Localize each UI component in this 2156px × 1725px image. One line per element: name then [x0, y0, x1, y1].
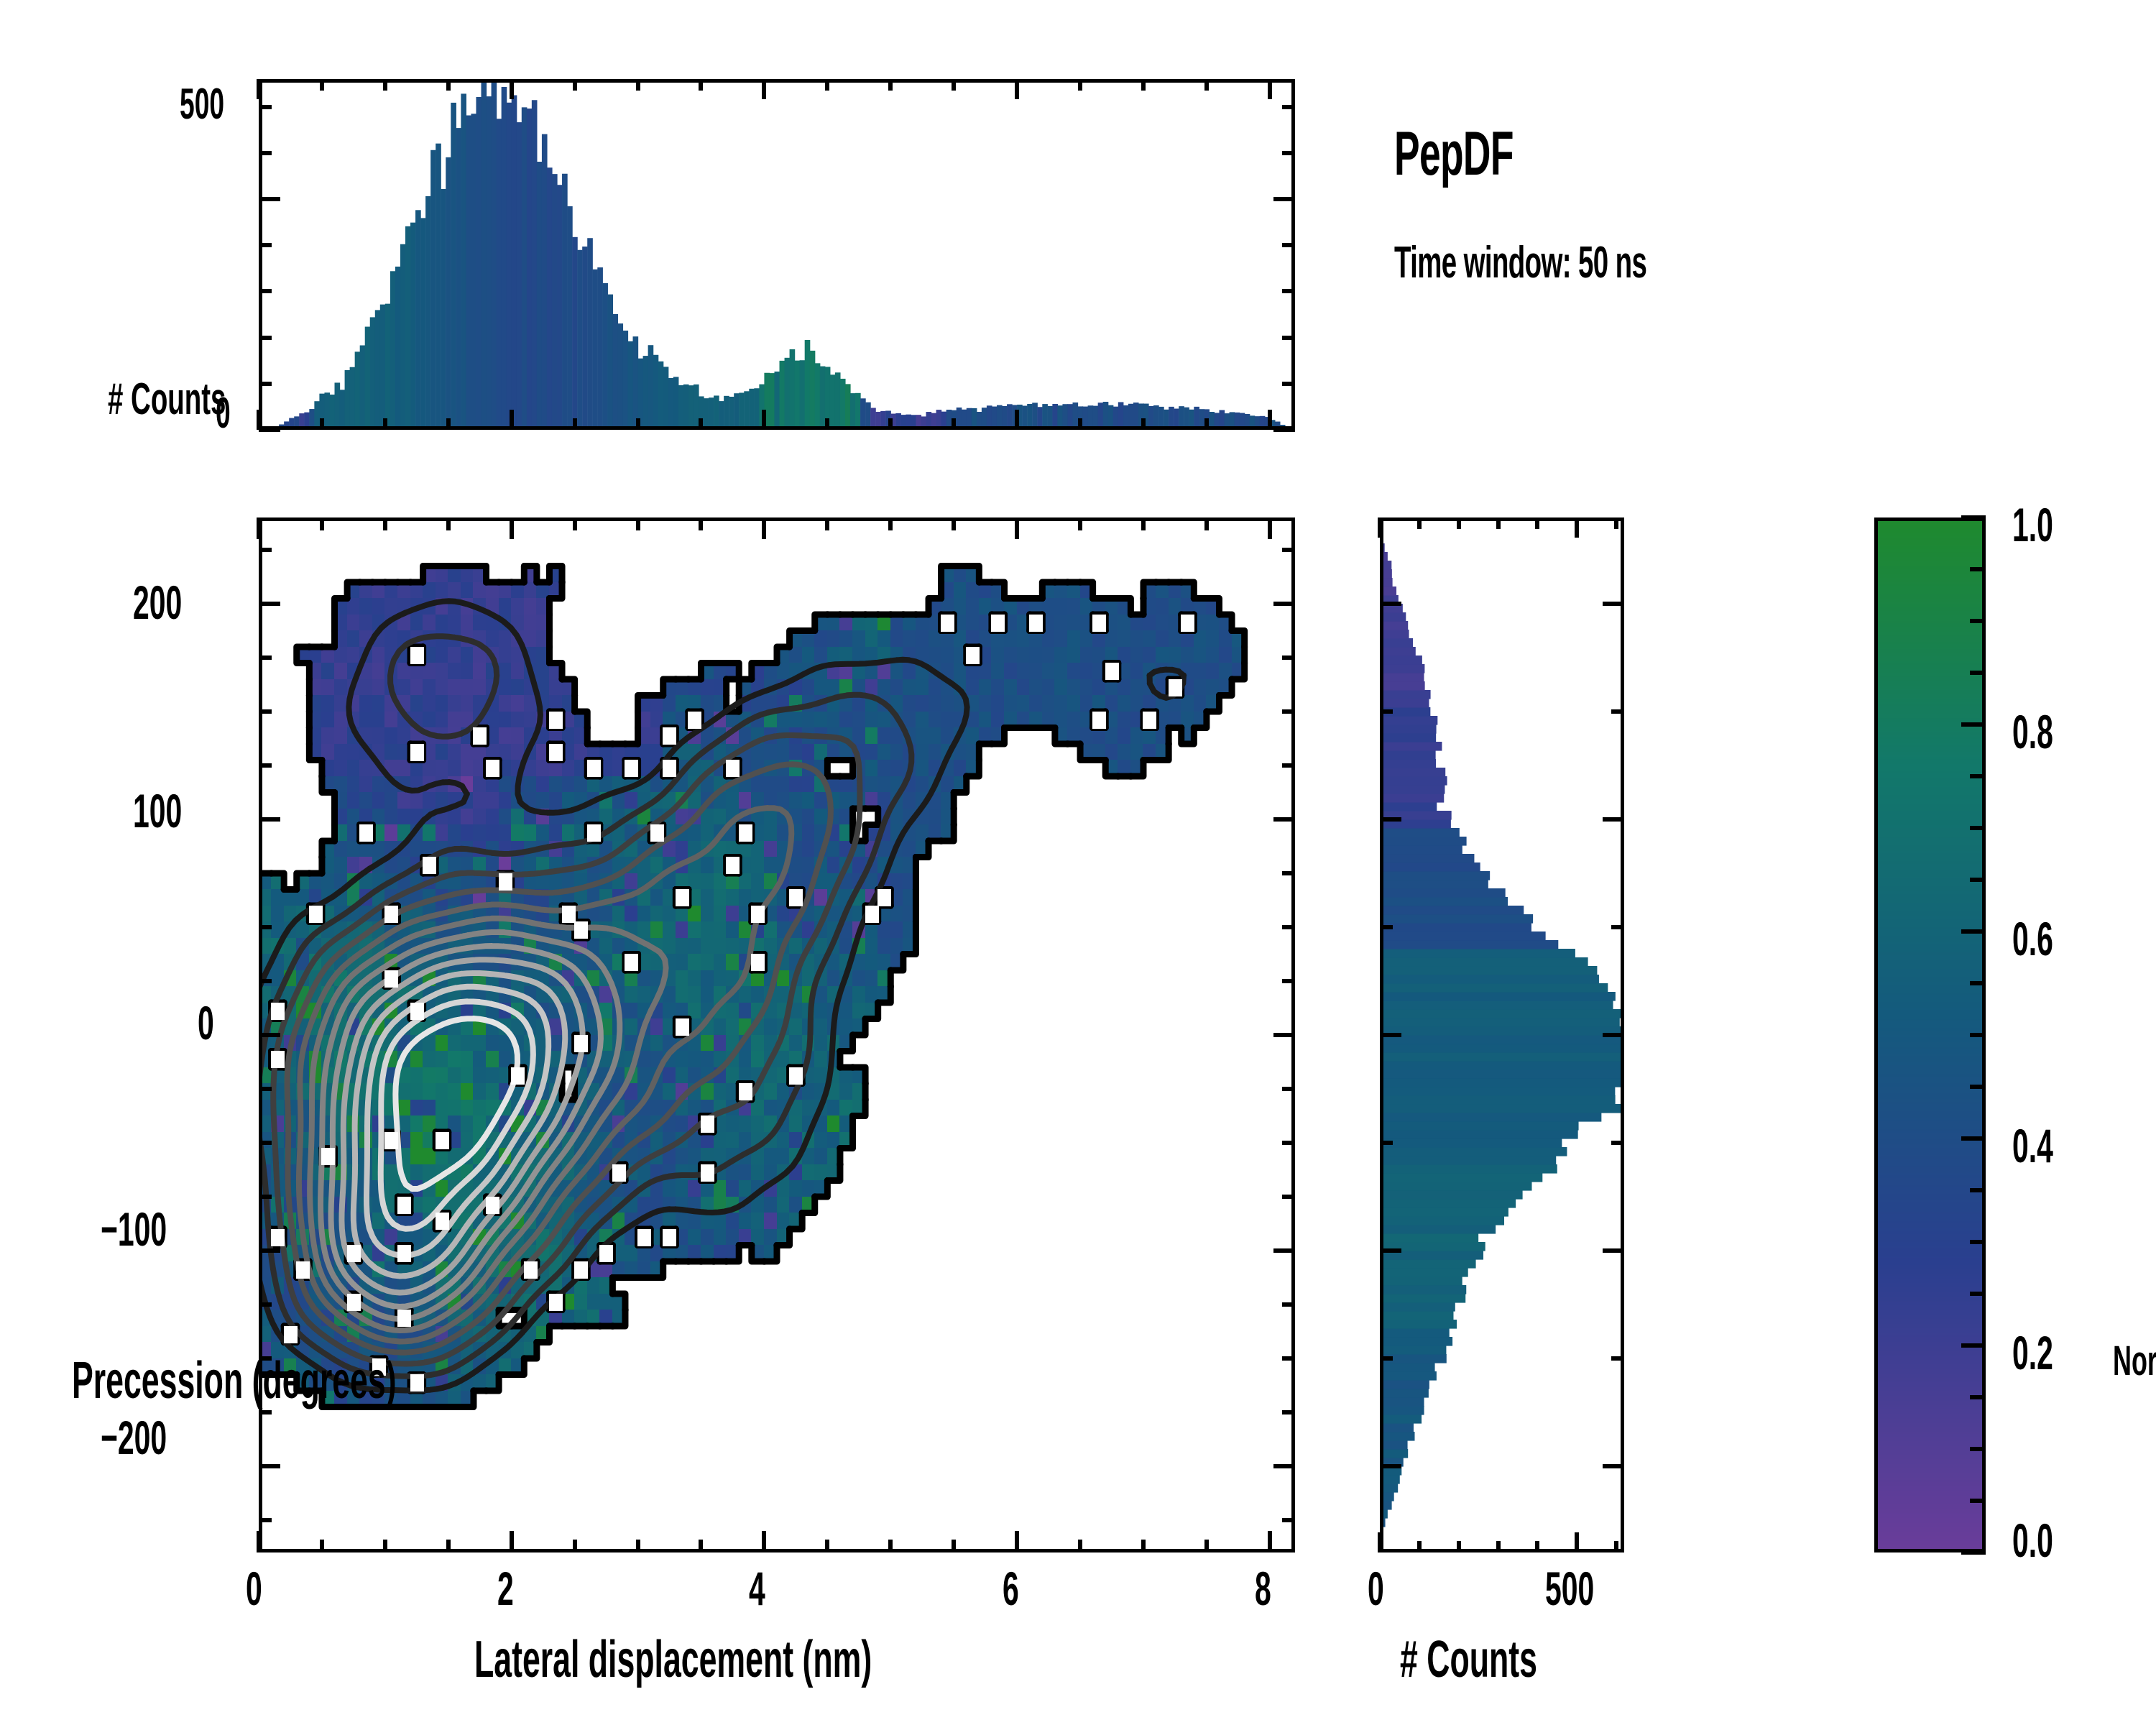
axis-tick	[259, 197, 280, 201]
axis-tick	[383, 517, 387, 530]
axis-tick	[257, 79, 261, 99]
top-histogram-ylabel: # Counts	[108, 374, 226, 425]
axis-tick	[1268, 410, 1272, 430]
axis-tick	[259, 1141, 272, 1145]
axis-tick	[259, 336, 272, 340]
axis-tick	[1282, 655, 1295, 660]
axis-tick	[257, 1531, 261, 1552]
main-ytick-neg200: −200	[101, 1410, 167, 1465]
axis-tick	[1961, 929, 1986, 934]
axis-tick	[1141, 517, 1146, 530]
axis-tick	[383, 79, 387, 91]
axis-tick	[573, 517, 577, 530]
axis-tick	[320, 79, 324, 91]
axis-tick	[446, 79, 451, 91]
main-xtick-4: 4	[749, 1561, 765, 1616]
axis-tick	[1204, 418, 1209, 430]
axis-tick	[259, 1302, 272, 1307]
axis-tick	[1378, 517, 1382, 538]
main-ytick-100: 100	[133, 783, 182, 838]
main-ytick-200: 200	[133, 575, 182, 630]
axis-tick	[1282, 1087, 1295, 1091]
axis-tick	[1141, 418, 1146, 430]
axis-tick	[1268, 1531, 1272, 1552]
axis-tick	[1611, 1356, 1624, 1361]
axis-tick	[1282, 1302, 1295, 1307]
axis-tick	[1078, 79, 1082, 91]
axis-tick	[1614, 1541, 1618, 1552]
axis-tick	[510, 79, 514, 99]
axis-tick	[1496, 1541, 1501, 1552]
axis-tick	[1078, 1540, 1082, 1552]
axis-tick	[259, 428, 280, 432]
axis-tick	[383, 418, 387, 430]
axis-tick	[320, 517, 324, 530]
right-xtick-0: 0	[1368, 1561, 1384, 1616]
axis-tick	[1961, 1343, 1986, 1348]
colorbar-tick-0-4: 0.4	[2012, 1118, 2053, 1173]
colorbar-tick-0-6: 0.6	[2012, 911, 2053, 966]
axis-tick	[1204, 517, 1209, 530]
axis-tick	[952, 418, 956, 430]
axis-tick	[1970, 671, 1986, 675]
right-xlabel: # Counts	[1400, 1630, 1537, 1689]
colorbar-label: Normalized Mean Time	[2113, 1337, 2156, 1385]
axis-tick	[825, 418, 829, 430]
axis-tick	[1273, 1464, 1295, 1468]
axis-tick	[762, 1531, 766, 1552]
axis-tick	[1282, 1356, 1295, 1361]
axis-tick	[1970, 1033, 1986, 1037]
axis-tick	[1535, 1541, 1539, 1552]
axis-tick	[636, 418, 640, 430]
axis-tick	[259, 151, 272, 155]
axis-tick	[1970, 567, 1986, 571]
right-xtick-500: 500	[1545, 1561, 1594, 1616]
axis-tick	[1078, 418, 1082, 430]
axis-tick	[573, 418, 577, 430]
axis-tick	[1282, 243, 1295, 247]
axis-tick	[888, 517, 893, 530]
axis-tick	[1457, 517, 1461, 529]
axis-tick	[1282, 151, 1295, 155]
axis-tick	[699, 517, 703, 530]
top-histogram-tick-500: 500	[180, 79, 224, 129]
axis-tick	[1273, 602, 1295, 606]
axis-tick	[1417, 1541, 1422, 1552]
axis-tick	[1380, 1464, 1401, 1468]
axis-tick	[1282, 548, 1295, 552]
axis-tick	[1141, 79, 1146, 91]
axis-tick	[1282, 1195, 1295, 1199]
axis-tick	[762, 410, 766, 430]
axis-tick	[1268, 517, 1272, 539]
axis-tick	[1614, 517, 1618, 529]
main-ytick-0: 0	[198, 995, 214, 1050]
colorbar-panel	[1874, 517, 1986, 1552]
axis-tick	[1078, 517, 1082, 530]
axis-tick	[1141, 1540, 1146, 1552]
axis-tick	[1282, 1410, 1295, 1414]
axis-tick	[573, 79, 577, 91]
axis-tick	[1273, 197, 1295, 201]
axis-tick	[259, 602, 280, 606]
axis-tick	[636, 517, 640, 530]
axis-tick	[1282, 382, 1295, 386]
axis-tick	[1378, 1532, 1382, 1552]
axis-tick	[1273, 428, 1295, 432]
right-histogram-canvas	[1380, 517, 1624, 1552]
axis-tick	[1970, 1447, 1986, 1451]
main-xtick-2: 2	[497, 1561, 514, 1616]
axis-tick	[1273, 1033, 1295, 1037]
axis-tick	[259, 763, 272, 768]
axis-tick	[1417, 517, 1422, 529]
axis-tick	[1970, 878, 1986, 882]
axis-tick	[1603, 1464, 1624, 1468]
axis-tick	[1961, 515, 1986, 520]
figure-title: PepDF	[1394, 119, 1514, 190]
axis-tick	[259, 548, 272, 552]
axis-tick	[1970, 774, 1986, 778]
axis-tick	[1015, 517, 1019, 539]
axis-tick	[1282, 709, 1295, 714]
main-xtick-0: 0	[246, 1561, 262, 1616]
axis-tick	[825, 517, 829, 530]
axis-tick	[1496, 517, 1501, 529]
colorbar-tick-0-0: 0.0	[2012, 1513, 2053, 1568]
main-xtick-6: 6	[1003, 1561, 1019, 1616]
axis-tick	[320, 1540, 324, 1552]
axis-tick	[1380, 925, 1393, 929]
axis-tick	[1380, 1248, 1401, 1253]
axis-tick	[257, 410, 261, 430]
axis-tick	[1970, 1499, 1986, 1503]
axis-tick	[259, 817, 280, 822]
axis-tick	[1380, 1033, 1401, 1037]
axis-tick	[1282, 336, 1295, 340]
main-ytick-neg100: −100	[101, 1202, 167, 1256]
axis-tick	[259, 1087, 272, 1091]
axis-tick	[1961, 1136, 1986, 1141]
axis-tick	[825, 1540, 829, 1552]
axis-tick	[257, 517, 261, 539]
axis-tick	[1961, 1550, 1986, 1555]
axis-tick	[888, 79, 893, 91]
figure-subtitle: Time window: 50 ns	[1394, 237, 1646, 288]
axis-tick	[259, 709, 272, 714]
axis-tick	[446, 1540, 451, 1552]
axis-tick	[1535, 517, 1539, 529]
axis-tick	[259, 1464, 280, 1468]
axis-tick	[1611, 925, 1624, 929]
main-heatmap-panel	[259, 517, 1295, 1552]
axis-tick	[1970, 826, 1986, 830]
axis-tick	[1015, 79, 1019, 99]
axis-tick	[259, 1518, 272, 1522]
axis-tick	[1380, 817, 1401, 822]
axis-tick	[1268, 79, 1272, 99]
axis-tick	[446, 418, 451, 430]
axis-tick	[259, 382, 272, 386]
axis-tick	[1457, 1541, 1461, 1552]
axis-tick	[1282, 1141, 1295, 1145]
axis-tick	[1282, 105, 1295, 109]
axis-tick	[762, 517, 766, 539]
axis-tick	[1282, 289, 1295, 293]
axis-tick	[446, 517, 451, 530]
axis-tick	[259, 979, 272, 983]
axis-tick	[1273, 1248, 1295, 1253]
axis-tick	[1015, 1531, 1019, 1552]
heatmap-canvas	[259, 517, 1295, 1552]
axis-tick	[636, 79, 640, 91]
axis-tick	[259, 105, 272, 109]
axis-tick	[259, 655, 272, 660]
axis-tick	[1575, 517, 1579, 538]
axis-tick	[259, 1410, 272, 1414]
axis-tick	[1204, 1540, 1209, 1552]
axis-tick	[259, 871, 272, 875]
axis-tick	[259, 1195, 272, 1199]
axis-tick	[1282, 979, 1295, 983]
axis-tick	[888, 418, 893, 430]
axis-tick	[259, 1033, 280, 1037]
top-marginal-histogram-panel	[259, 79, 1295, 430]
axis-tick	[636, 1540, 640, 1552]
right-marginal-histogram-panel	[1380, 517, 1624, 1552]
axis-tick	[1603, 602, 1624, 606]
axis-tick	[1970, 1188, 1986, 1192]
axis-tick	[573, 1540, 577, 1552]
top-histogram-canvas	[259, 79, 1295, 430]
axis-tick	[1575, 1532, 1579, 1552]
axis-tick	[259, 243, 272, 247]
axis-tick	[320, 418, 324, 430]
axis-tick	[1380, 1356, 1393, 1361]
axis-tick	[1204, 79, 1209, 91]
axis-tick	[1970, 1240, 1986, 1244]
axis-tick	[699, 79, 703, 91]
axis-tick	[825, 79, 829, 91]
axis-tick	[1282, 763, 1295, 768]
axis-tick	[259, 925, 272, 929]
colorbar-tick-1-0: 1.0	[2012, 497, 2053, 552]
axis-tick	[1603, 1248, 1624, 1253]
colorbar-tick-0-8: 0.8	[2012, 704, 2053, 759]
axis-tick	[762, 79, 766, 99]
axis-tick	[1603, 817, 1624, 822]
axis-tick	[952, 1540, 956, 1552]
axis-tick	[1970, 1085, 1986, 1089]
colorbar-tick-0-2: 0.2	[2012, 1325, 2053, 1380]
axis-tick	[1282, 871, 1295, 875]
axis-tick	[1273, 817, 1295, 822]
axis-tick	[1611, 709, 1624, 714]
axis-tick	[1970, 619, 1986, 623]
axis-tick	[1970, 1292, 1986, 1296]
axis-tick	[1961, 722, 1986, 727]
axis-tick	[383, 1540, 387, 1552]
axis-tick	[699, 418, 703, 430]
axis-tick	[510, 410, 514, 430]
main-ylabel: Precession (degrees)	[72, 1351, 397, 1410]
axis-tick	[888, 1540, 893, 1552]
main-xtick-8: 8	[1255, 1561, 1271, 1616]
axis-tick	[1380, 709, 1393, 714]
axis-tick	[510, 1531, 514, 1552]
axis-tick	[1282, 925, 1295, 929]
axis-tick	[1970, 981, 1986, 985]
axis-tick	[1282, 1518, 1295, 1522]
axis-tick	[699, 1540, 703, 1552]
axis-tick	[259, 1248, 280, 1253]
axis-tick	[510, 517, 514, 539]
axis-tick	[259, 289, 272, 293]
axis-tick	[952, 517, 956, 530]
axis-tick	[1015, 410, 1019, 430]
axis-tick	[1380, 1141, 1393, 1145]
axis-tick	[952, 79, 956, 91]
axis-tick	[1603, 1033, 1624, 1037]
axis-tick	[1611, 1141, 1624, 1145]
main-xlabel: Lateral displacement (nm)	[474, 1630, 872, 1689]
axis-tick	[1380, 602, 1401, 606]
colorbar-gradient	[1874, 517, 1986, 1552]
axis-tick	[1970, 1395, 1986, 1399]
